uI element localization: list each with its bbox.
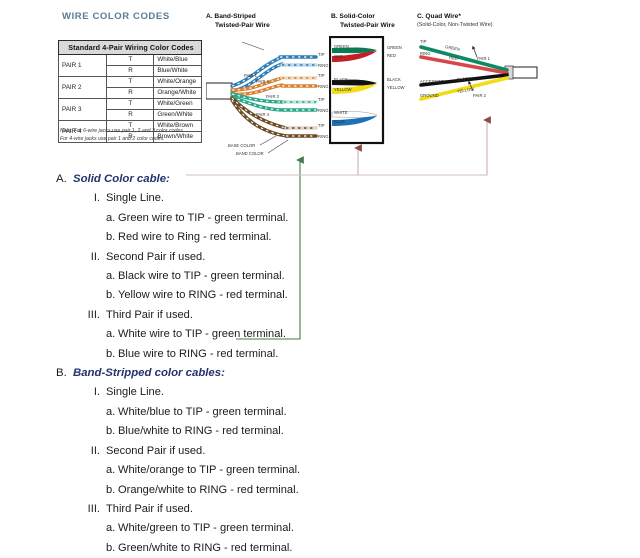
list-marker: b. xyxy=(106,422,118,441)
table-header: Standard 4-Pair Wiring Color Codes xyxy=(59,41,202,55)
list-item: I.Single Line. xyxy=(56,189,386,208)
cell-pair: PAIR 1 xyxy=(59,55,107,77)
instruction-list: A.Solid Color cable: I.Single Line. a.Gr… xyxy=(56,170,386,558)
list-item: II.Second Pair if used. xyxy=(56,442,386,461)
list-marker: b. xyxy=(106,286,118,305)
panel-a-heading: A. Band-Striped Twisted-Pair Wire xyxy=(206,13,270,30)
list-item: b.Green/white to RING - red terminal. xyxy=(56,539,386,558)
list-text: Single Line. xyxy=(106,192,164,204)
panel-c-sheath xyxy=(505,66,537,79)
list-text: White wire to TIP - green terminal. xyxy=(118,328,286,340)
list-text: Band-Stripped color cables: xyxy=(73,367,225,379)
panel-a-ring-label-2: RING xyxy=(318,84,328,89)
list-marker: a. xyxy=(106,325,118,344)
list-item: b.Yellow wire to RING - red terminal. xyxy=(56,286,386,305)
list-item: a.Green wire to TIP - green terminal. xyxy=(56,209,386,228)
table-row: PAIR 1 T White/Blue xyxy=(59,55,202,66)
list-marker: a. xyxy=(106,403,118,422)
panel-c-terminal-tip: TIP xyxy=(420,39,427,44)
panel-c-illustration: TIP GREEN RING RED ACCESSORY BLACK GROUN… xyxy=(415,33,540,115)
cell-ring-label: R xyxy=(106,66,154,77)
cell-ring-color: Blue/White xyxy=(154,66,202,77)
list-text: Blue/white to RING - red terminal. xyxy=(118,425,284,437)
panel-a-band-color-label: BAND COLOR xyxy=(236,151,264,156)
list-marker: B. xyxy=(56,364,73,383)
table-note-line1: Note: For 6-wire jacks use pair 1, 2 and… xyxy=(60,128,208,136)
list-marker: I. xyxy=(81,189,106,208)
list-text: Green wire to TIP - green terminal. xyxy=(118,212,288,224)
cell-tip-label: T xyxy=(106,99,154,110)
panel-b-side-label-red: RED xyxy=(387,53,396,58)
panel-a-tip-label-3: TIP xyxy=(318,97,325,102)
panel-b-label-green: GREEN xyxy=(334,44,349,49)
panel-c-color-green: GREEN xyxy=(445,44,461,52)
panel-b-heading: B. Solid-Color Twisted-Pair Wire xyxy=(331,13,395,30)
list-item: a.White wire to TIP - green terminal. xyxy=(56,325,386,344)
panel-c-terminal-ground: GROUND xyxy=(420,93,439,98)
list-marker: I. xyxy=(81,383,106,402)
list-text: Black wire to TIP - green terminal. xyxy=(118,270,285,282)
panel-a-ring-label-4: RING xyxy=(318,134,328,139)
list-marker: a. xyxy=(106,267,118,286)
panel-a-ring-label-3: RING xyxy=(318,108,328,113)
panel-c-pair-label-2: PAIR 2 xyxy=(473,93,487,98)
cell-ring-label: R xyxy=(106,88,154,99)
list-text: Third Pair if used. xyxy=(106,503,193,515)
panel-c-subtitle: (Solid-Color, Non-Twisted Wire) xyxy=(417,22,493,29)
panel-c-pair-label-1: PAIR 1 xyxy=(477,56,491,61)
list-text: Single Line. xyxy=(106,386,164,398)
list-item: III.Third Pair if used. xyxy=(56,306,386,325)
list-text: White/blue to TIP - green terminal. xyxy=(118,406,287,418)
list-text: Red wire to Ring - red terminal. xyxy=(118,231,272,243)
panel-a-tip-label-4: TIP xyxy=(318,123,325,128)
panel-a-base-color-label: BASE COLOR xyxy=(228,143,255,148)
list-item: a.White/green to TIP - green terminal. xyxy=(56,519,386,538)
panel-b-side-label-yellow: YELLOW xyxy=(387,85,405,90)
page-title: WIRE COLOR CODES xyxy=(62,11,170,22)
list-text: Orange/white to RING - red terminal. xyxy=(118,484,299,496)
list-item: b.Blue/white to RING - red terminal. xyxy=(56,422,386,441)
cell-pair: PAIR 3 xyxy=(59,99,107,121)
list-item: b.Blue wire to RING - red terminal. xyxy=(56,345,386,364)
panel-b-illustration: GREEN GREEN RED RED BLACK BLACK YELLOW Y… xyxy=(329,36,413,146)
panel-c-color-red: RED xyxy=(449,55,458,61)
wire-color-codes-diagram: WIRE COLOR CODES Standard 4-Pair Wiring … xyxy=(0,0,640,480)
list-item: a.White/blue to TIP - green terminal. xyxy=(56,403,386,422)
list-text: Yellow wire to RING - red terminal. xyxy=(118,289,288,301)
table-row: PAIR 2 T White/Orange xyxy=(59,77,202,88)
cell-pair: PAIR 2 xyxy=(59,77,107,99)
list-text: Green/white to RING - red terminal. xyxy=(118,542,292,554)
panel-a-tip-label-2: TIP xyxy=(318,73,325,78)
list-marker: a. xyxy=(106,209,118,228)
list-marker: A. xyxy=(56,170,73,189)
table-note-line2: For 4-wire jacks use pair 1 and 2 color … xyxy=(60,136,208,144)
panel-b-side-label-black: BLACK xyxy=(387,77,401,82)
list-item: a.Black wire to TIP - green terminal. xyxy=(56,267,386,286)
panel-a-pair-label-2: PAIR 2 xyxy=(256,79,270,84)
panel-c-wire-red: RING RED xyxy=(420,51,507,73)
list-marker: II. xyxy=(81,442,106,461)
panel-b-side-label-green: GREEN xyxy=(387,45,402,50)
panel-a-pair-label-3: PAIR 3 xyxy=(266,94,280,99)
panel-b-label-yellow: YELLOW xyxy=(334,87,352,92)
list-item: a.White/orange to TIP - green terminal. xyxy=(56,461,386,480)
list-marker: a. xyxy=(106,461,118,480)
cell-ring-color: Orange/White xyxy=(154,88,202,99)
list-text: White/green to TIP - green terminal. xyxy=(118,522,294,534)
list-marker: b. xyxy=(106,228,118,247)
table-note: Note: For 6-wire jacks use pair 1, 2 and… xyxy=(60,128,208,143)
list-text: Third Pair if used. xyxy=(106,309,193,321)
panel-b-label-red: RED xyxy=(334,54,343,59)
pair-4-wires: TIP RING PAIR 4 xyxy=(232,98,328,139)
panel-a-title-line1: A. Band-Striped xyxy=(206,13,256,20)
list-item: III.Third Pair if used. xyxy=(56,500,386,519)
list-item: I.Single Line. xyxy=(56,383,386,402)
cell-tip-color: White/Green xyxy=(154,99,202,110)
list-item: b.Orange/white to RING - red terminal. xyxy=(56,481,386,500)
list-marker: a. xyxy=(106,519,118,538)
panel-c-terminal-accessory: ACCESSORY xyxy=(420,79,446,84)
cell-tip-label: T xyxy=(106,55,154,66)
list-marker: II. xyxy=(81,248,106,267)
panel-a-pair-label-1: PAIR 1 xyxy=(244,73,258,78)
list-text: White/orange to TIP - green terminal. xyxy=(118,464,300,476)
panel-b-label-black: BLACK xyxy=(334,77,348,82)
panel-c-title-line1: C. Quad Wire* xyxy=(417,13,461,20)
panel-a-tip-label-1: TIP xyxy=(318,52,325,57)
list-marker: III. xyxy=(81,500,106,519)
panel-b-label-blue: BLUE xyxy=(334,119,345,124)
list-marker: b. xyxy=(106,539,118,558)
list-marker: b. xyxy=(106,345,118,364)
list-item: A.Solid Color cable: xyxy=(56,170,386,189)
cable-sheath xyxy=(206,83,232,99)
cell-ring-color: Green/White xyxy=(154,110,202,121)
list-item: B.Band-Stripped color cables: xyxy=(56,364,386,383)
list-marker: III. xyxy=(81,306,106,325)
list-marker: b. xyxy=(106,481,118,500)
list-text: Blue wire to RING - red terminal. xyxy=(118,348,278,360)
list-item: II.Second Pair if used. xyxy=(56,248,386,267)
list-text: Solid Color cable: xyxy=(73,173,170,185)
panel-a-ring-label-1: RING xyxy=(318,63,328,68)
panel-a-pair-label-4: PAIR 4 xyxy=(256,112,270,117)
cell-tip-color: White/Blue xyxy=(154,55,202,66)
panel-c-terminal-ring: RING xyxy=(420,51,430,56)
panel-b-label-white: WHITE xyxy=(334,110,348,115)
table-row: PAIR 3 T White/Green xyxy=(59,99,202,110)
list-item: b.Red wire to Ring - red terminal. xyxy=(56,228,386,247)
panel-c-heading: C. Quad Wire* (Solid-Color, Non-Twisted … xyxy=(417,13,493,29)
panel-b-title-line1: B. Solid-Color xyxy=(331,13,375,20)
panel-b-title-line2: Twisted-Pair Wire xyxy=(331,22,395,31)
panel-a-illustration: TIP RING PAIR 1 TIP RING PAIR 2 xyxy=(206,36,331,158)
cell-tip-color: White/Orange xyxy=(154,77,202,88)
cell-ring-label: R xyxy=(106,110,154,121)
list-text: Second Pair if used. xyxy=(106,445,205,457)
list-text: Second Pair if used. xyxy=(106,251,205,263)
cell-tip-label: T xyxy=(106,77,154,88)
panel-a-title-line2: Twisted-Pair Wire xyxy=(206,22,270,31)
